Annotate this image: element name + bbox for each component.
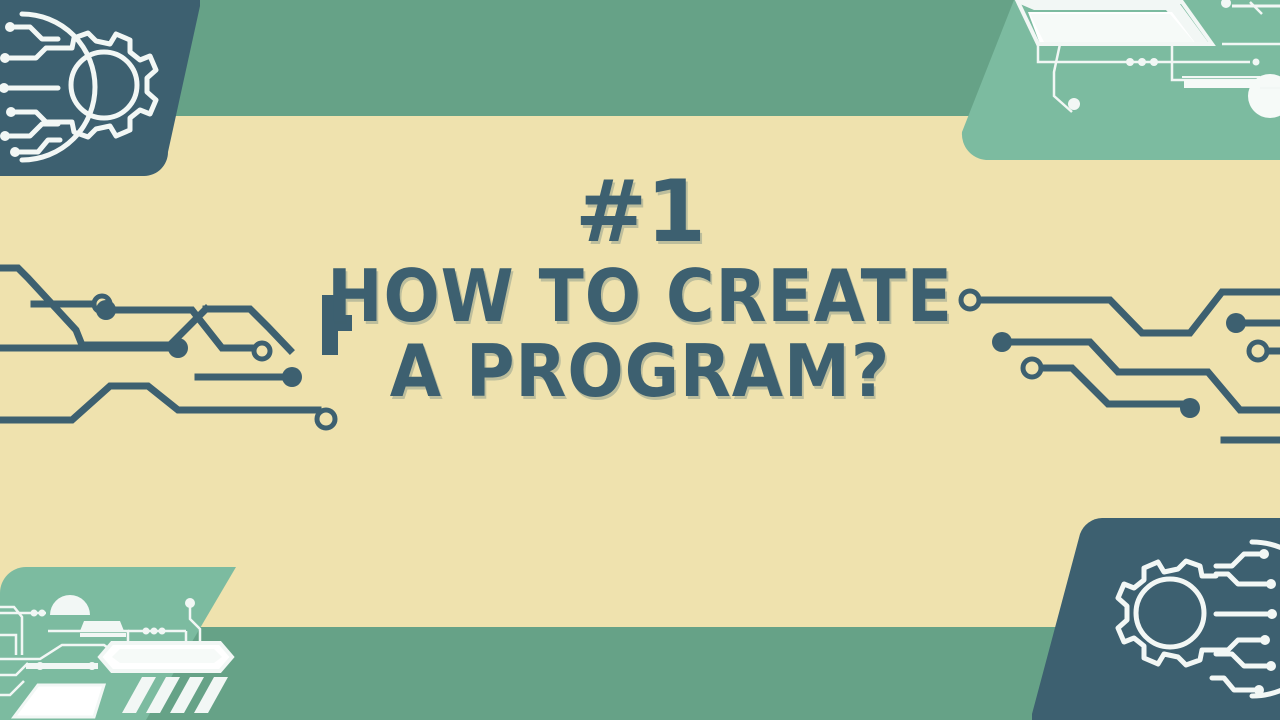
headline-line-1: HOW TO CREATE — [51, 262, 1229, 331]
slide-number: #1 — [0, 172, 1280, 254]
bottom-left-panel — [0, 563, 272, 720]
slide-canvas: #1 HOW TO CREATE A PROGRAM? — [0, 0, 1280, 720]
title-block: #1 HOW TO CREATE A PROGRAM? — [0, 172, 1280, 406]
headline-line-2: A PROGRAM? — [51, 337, 1229, 406]
bottom-right-panel — [1030, 518, 1280, 720]
top-left-panel — [0, 0, 200, 176]
top-right-panel — [950, 0, 1280, 160]
